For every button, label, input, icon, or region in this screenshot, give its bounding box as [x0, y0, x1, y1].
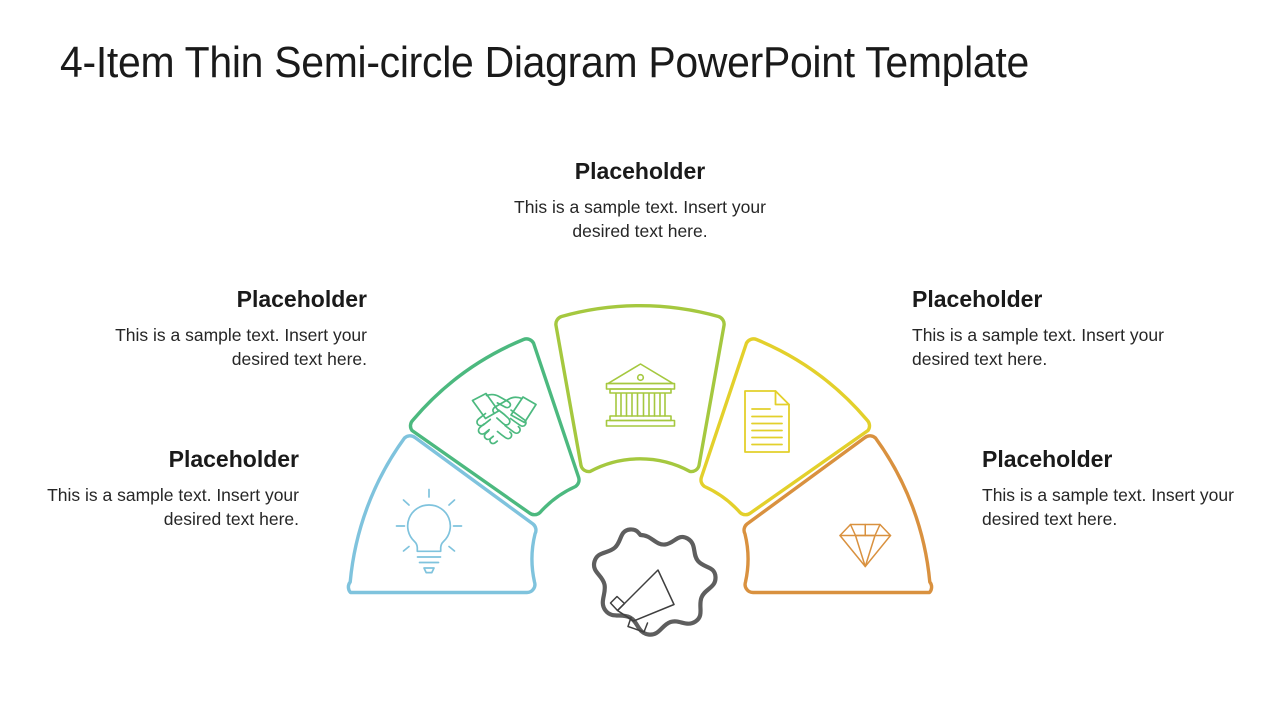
sector-shape-handshake[interactable]	[410, 339, 579, 515]
placeholder-body-bank: This is a sample text. Insert your desir…	[485, 195, 795, 245]
sector-diamond[interactable]	[744, 436, 932, 593]
document-icon	[745, 391, 789, 452]
sector-handshake[interactable]	[410, 339, 579, 515]
placeholder-title-diamond: Placeholder	[982, 446, 1254, 474]
placeholder-title-document: Placeholder	[912, 286, 1180, 314]
diamond-icon	[840, 525, 891, 567]
bank-building-icon	[607, 364, 675, 426]
text-block-document: Placeholder This is a sample text. Inser…	[912, 286, 1180, 372]
text-block-bank: Placeholder This is a sample text. Inser…	[485, 158, 795, 244]
sector-bank[interactable]	[556, 306, 724, 472]
text-block-lightbulb: Placeholder This is a sample text. Inser…	[35, 446, 299, 532]
placeholder-body-handshake: This is a sample text. Insert your desir…	[105, 323, 367, 373]
text-block-diamond: Placeholder This is a sample text. Inser…	[982, 446, 1254, 532]
sector-shape-document[interactable]	[701, 339, 870, 515]
placeholder-title-handshake: Placeholder	[105, 286, 367, 314]
sector-lightbulb[interactable]	[348, 436, 536, 593]
sector-shape-lightbulb[interactable]	[348, 436, 536, 593]
placeholder-title-bank: Placeholder	[485, 158, 795, 186]
sector-document[interactable]	[701, 339, 870, 515]
placeholder-body-document: This is a sample text. Insert your desir…	[912, 323, 1180, 373]
starburst-badge-icon[interactable]	[594, 529, 716, 634]
placeholder-body-diamond: This is a sample text. Insert your desir…	[982, 483, 1254, 533]
center-badge[interactable]	[594, 529, 716, 634]
megaphone-icon	[611, 570, 675, 632]
text-block-handshake: Placeholder This is a sample text. Inser…	[105, 286, 367, 372]
placeholder-title-lightbulb: Placeholder	[35, 446, 299, 474]
lightbulb-icon	[397, 490, 462, 573]
page-title: 4-Item Thin Semi-circle Diagram PowerPoi…	[60, 38, 1148, 89]
handshake-icon	[473, 394, 537, 444]
placeholder-body-lightbulb: This is a sample text. Insert your desir…	[35, 483, 299, 533]
sector-shape-diamond[interactable]	[744, 436, 932, 593]
slide-canvas: 4-Item Thin Semi-circle Diagram PowerPoi…	[0, 0, 1280, 720]
